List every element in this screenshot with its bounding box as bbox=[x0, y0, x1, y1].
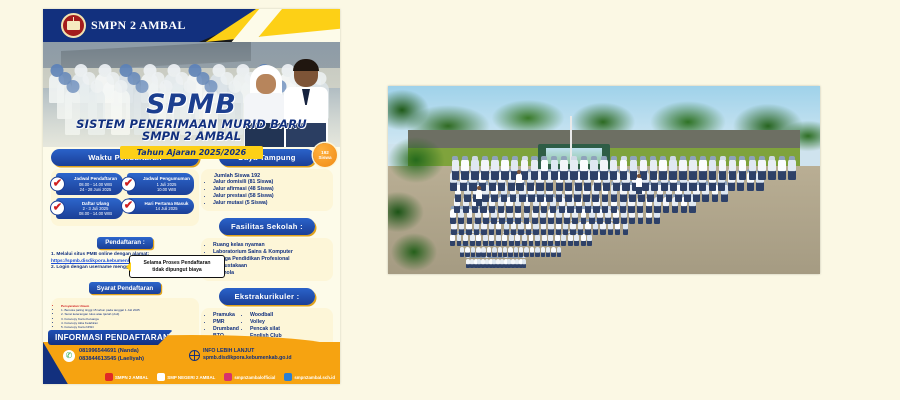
photo-student bbox=[481, 247, 485, 258]
photo-student bbox=[758, 159, 766, 180]
more-info-url[interactable]: spmb.disdikpora.kebumenkab.go.id bbox=[203, 355, 292, 362]
photo-student bbox=[551, 159, 559, 180]
photo-student bbox=[555, 234, 560, 246]
ekstrakurikuler-item: PMR bbox=[213, 319, 239, 326]
photo-student bbox=[509, 234, 514, 246]
photo-student bbox=[522, 234, 527, 246]
photo-student bbox=[450, 234, 455, 246]
photo-student bbox=[515, 234, 520, 246]
photo-student bbox=[503, 247, 507, 258]
photo-student bbox=[749, 159, 757, 180]
spmb-poster: SMPN 2 AMBAL SPMB SISTEM PENERIMAAN MURI… bbox=[43, 9, 340, 384]
photo-student bbox=[524, 247, 528, 258]
photo-student bbox=[498, 247, 502, 258]
photo-student bbox=[502, 234, 507, 246]
photo-student bbox=[581, 234, 586, 246]
poster-footer: INFORMASI PENDAFTARAN ✆ 081996544691 (Na… bbox=[43, 342, 340, 384]
photo-student bbox=[530, 247, 534, 258]
photo-student bbox=[557, 247, 561, 258]
photo-student bbox=[729, 159, 737, 180]
social-link[interactable]: smpn2ambal.sch.id bbox=[284, 373, 335, 381]
free-registration-callout: Selama Proses Pendaftaran tidak dipungut… bbox=[129, 255, 225, 278]
photo-student bbox=[535, 234, 540, 246]
daya-tampung-panel: Jumlah Siswa 192 Jalur domisili (81 Sisw… bbox=[201, 169, 333, 211]
contact-phones: 081996544691 (Nanda) 083844613545 (Laeli… bbox=[79, 348, 144, 363]
photo-student bbox=[514, 247, 518, 258]
ekstrakurikuler-item: Drumband bbox=[213, 326, 239, 333]
globe-icon bbox=[189, 350, 200, 361]
hero-title-block: SPMB SISTEM PENERIMAAN MURID BARU SMPN 2… bbox=[43, 92, 340, 159]
photo-student bbox=[600, 159, 608, 180]
photo-student bbox=[659, 159, 667, 180]
pendaftaran-heading: Pendaftaran : bbox=[97, 237, 153, 249]
poster-header: SMPN 2 AMBAL bbox=[43, 9, 340, 42]
photo-teacher bbox=[636, 178, 642, 194]
photo-student bbox=[689, 159, 697, 180]
photo-teacher bbox=[476, 190, 482, 206]
fasilitas-heading: Fasilitas Sekolah : bbox=[219, 218, 315, 235]
photo-student bbox=[489, 234, 494, 246]
fasilitas-item: Tenaga Pendidikan Profesional bbox=[213, 256, 328, 263]
syarat-heading: Syarat Pendaftaran bbox=[89, 282, 161, 294]
photo-student bbox=[461, 159, 469, 180]
photo-student bbox=[768, 159, 776, 180]
photo-student bbox=[551, 247, 555, 258]
social-links[interactable]: SMPN 2 AMBALSMP NEGERI 2 AMBALsmpn2ambal… bbox=[105, 373, 337, 381]
check-icon: ✔ bbox=[121, 176, 136, 191]
photo-student bbox=[580, 159, 588, 180]
photo-student bbox=[650, 159, 658, 180]
spmb-title: SPMB bbox=[43, 92, 340, 118]
social-link[interactable]: SMP NEGERI 2 AMBAL bbox=[157, 373, 215, 381]
more-info: INFO LEBIH LANJUT spmb.disdikpora.kebume… bbox=[203, 348, 292, 362]
photo-student bbox=[788, 159, 796, 180]
ekstrakurikuler-item: Woodball bbox=[250, 312, 282, 319]
school-ceremony-photo bbox=[388, 86, 820, 274]
photo-student bbox=[542, 234, 547, 246]
ekstrakurikuler-item: Pencak silat bbox=[250, 326, 282, 333]
whatsapp-icon: ✆ bbox=[63, 350, 75, 362]
photo-student-formation bbox=[388, 86, 820, 274]
photo-student bbox=[529, 234, 534, 246]
daya-tampung-item: Jalur domisili (81 Siswa) bbox=[213, 179, 328, 186]
photo-student bbox=[492, 247, 496, 258]
photo-student bbox=[465, 247, 469, 258]
photo-student bbox=[531, 159, 539, 180]
photo-student bbox=[476, 234, 481, 246]
school-name: SMPN 2 AMBAL bbox=[91, 18, 186, 33]
social-link[interactable]: SMPN 2 AMBAL bbox=[105, 373, 148, 381]
photo-student bbox=[496, 234, 501, 246]
photo-student bbox=[522, 259, 526, 268]
photo-student bbox=[548, 234, 553, 246]
photo-student bbox=[519, 247, 523, 258]
photo-student bbox=[487, 247, 491, 258]
photo-student bbox=[535, 247, 539, 258]
social-label: SMPN 2 AMBAL bbox=[115, 375, 148, 380]
daya-tampung-item: Jalur afirmasi (48 Siswa) bbox=[213, 186, 328, 193]
fasilitas-item: Laboratorium Sains & Komputer bbox=[213, 249, 328, 256]
schedule-item: ✔ Jadwal Pendaftaran 08.00 - 14.00 WIB 2… bbox=[56, 173, 123, 195]
photo-student bbox=[508, 247, 512, 258]
photo-student bbox=[561, 234, 566, 246]
photo-student bbox=[679, 159, 687, 180]
academic-year-badge: Tahun Ajaran 2025/2026 bbox=[120, 146, 263, 159]
photo-student bbox=[699, 159, 707, 180]
photo-student bbox=[568, 234, 573, 246]
photo-student bbox=[574, 234, 579, 246]
daya-tampung-item: Jalur prestasi (58 Siswa) bbox=[213, 193, 328, 200]
fasilitas-item: Mushola bbox=[213, 270, 328, 277]
social-label: SMP NEGERI 2 AMBAL bbox=[167, 375, 215, 380]
photo-student bbox=[491, 159, 499, 180]
school-emblem-icon bbox=[61, 13, 86, 38]
photo-student bbox=[719, 159, 727, 180]
photo-student bbox=[739, 159, 747, 180]
waktu-pendaftaran-panel: ✔ Jadwal Pendaftaran 08.00 - 14.00 WIB 2… bbox=[51, 169, 199, 226]
photo-student bbox=[470, 234, 475, 246]
facebook-icon bbox=[157, 373, 165, 381]
photo-student bbox=[541, 247, 545, 258]
photo-student bbox=[570, 159, 578, 180]
schedule-item: ✔ Jadwal Pengumuman 1 Juli 2025 10.00 WI… bbox=[127, 173, 194, 195]
photo-student bbox=[778, 159, 786, 180]
photo-student bbox=[560, 159, 568, 180]
schedule-item: ✔ Hari Pertama Masuk 14 Juli 2025 bbox=[127, 198, 194, 215]
spmb-subtitle-2: SMPN 2 AMBAL bbox=[43, 130, 340, 143]
social-link[interactable]: smpn2ambalofficial bbox=[224, 373, 275, 381]
photo-student bbox=[501, 159, 509, 180]
fasilitas-item: Ruang kelas nyaman bbox=[213, 242, 328, 249]
check-icon: ✔ bbox=[121, 198, 136, 213]
photo-student bbox=[590, 159, 598, 180]
fasilitas-item: Perpustakaan bbox=[213, 263, 328, 270]
photo-student bbox=[541, 159, 549, 180]
photo-teacher bbox=[516, 174, 522, 190]
poster-right-column: Daya Tampung 192 Siswa Jumlah Siswa 192 … bbox=[201, 149, 333, 351]
social-label: smpn2ambal.sch.id bbox=[294, 375, 335, 380]
photo-student bbox=[463, 234, 468, 246]
daya-tampung-item: Jalur mutasi (5 Siswa) bbox=[213, 200, 328, 207]
check-icon: ✔ bbox=[50, 201, 65, 216]
informasi-pendaftaran-banner: INFORMASI PENDAFTARAN bbox=[48, 330, 173, 345]
photo-student bbox=[471, 159, 479, 180]
ekstrakurikuler-item: Pramuka bbox=[213, 312, 239, 319]
photo-student bbox=[452, 159, 460, 180]
schedule-item: ✔ Daftar Ulang 2 - 3 Juli 2025 08.00 - 1… bbox=[56, 198, 123, 220]
social-label: smpn2ambalofficial bbox=[234, 375, 275, 380]
website-icon bbox=[284, 373, 292, 381]
photo-student bbox=[471, 247, 475, 258]
photo-student bbox=[669, 159, 677, 180]
photo-student bbox=[460, 247, 464, 258]
photo-student bbox=[587, 234, 592, 246]
ekstrakurikuler-heading: Ekstrakurikuler : bbox=[219, 288, 315, 305]
photo-student bbox=[709, 159, 717, 180]
daya-tampung-list: Jalur domisili (81 Siswa)Jalur afirmasi … bbox=[206, 179, 328, 207]
photo-student bbox=[620, 159, 628, 180]
photo-student bbox=[630, 159, 638, 180]
photo-student bbox=[483, 234, 488, 246]
photo-student bbox=[610, 159, 618, 180]
check-icon: ✔ bbox=[50, 176, 65, 191]
photo-student bbox=[481, 159, 489, 180]
photo-student bbox=[546, 247, 550, 258]
photo-student bbox=[457, 234, 462, 246]
instagram-icon bbox=[224, 373, 232, 381]
ekstrakurikuler-item: Volley bbox=[250, 319, 282, 326]
youtube-icon bbox=[105, 373, 113, 381]
photo-student bbox=[476, 247, 480, 258]
